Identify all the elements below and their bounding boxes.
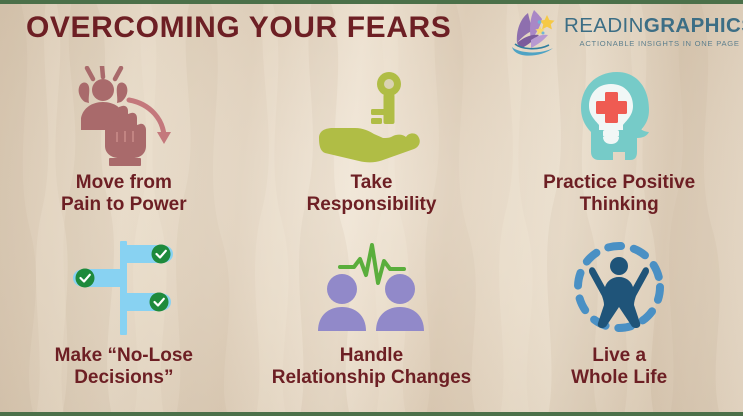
item-label: Live a Whole Life — [571, 345, 667, 389]
head-with-lightbulb-plus-icon — [569, 66, 669, 166]
item-handle-relationship-changes: Handle Relationship Changes — [248, 235, 496, 408]
logo-tagline: ACTIONABLE INSIGHTS IN ONE PAGE — [564, 40, 743, 48]
logo-word-light: READIN — [564, 14, 644, 37]
icon-wrapper — [310, 239, 432, 335]
item-label: Take Responsibility — [307, 172, 437, 216]
icon-wrapper — [569, 66, 669, 166]
item-label: Move from Pain to Power — [61, 172, 187, 216]
icon-wrapper — [571, 239, 667, 335]
logo-wordmark: READINGRAPHICS ACTIONABLE INSIGHTS IN ON… — [564, 16, 743, 47]
item-make-no-lose-decisions: Make “No-Lose Decisions” — [0, 235, 248, 408]
icon-wrapper — [65, 239, 183, 335]
item-label: Make “No-Lose Decisions” — [55, 345, 193, 389]
icon-wrapper — [311, 66, 431, 166]
bottom-edge-bar — [0, 412, 743, 416]
item-move-from-pain-to-power: Move from Pain to Power — [0, 62, 248, 235]
item-label: Handle Relationship Changes — [272, 345, 472, 389]
item-practice-positive-thinking: Practice Positive Thinking — [495, 62, 743, 235]
signpost-with-checkmarks-icon — [65, 239, 183, 335]
top-edge-bar — [0, 0, 743, 4]
logo-word-bold: GRAPHICS — [644, 14, 743, 37]
logo-word-line: READINGRAPHICS — [564, 16, 743, 37]
infographic-slide: OVERCOMING YOUR FEARS READINGRAPHICS ACT… — [0, 0, 743, 416]
icon-wrapper — [65, 66, 183, 166]
brand-logo: READINGRAPHICS ACTIONABLE INSIGHTS IN ON… — [506, 5, 731, 59]
item-live-a-whole-life: Live a Whole Life — [495, 235, 743, 408]
page-title: OVERCOMING YOUR FEARS — [26, 11, 451, 45]
book-logo-icon — [506, 7, 562, 57]
item-take-responsibility: Take Responsibility — [248, 62, 496, 235]
item-label: Practice Positive Thinking — [543, 172, 695, 216]
stressed-person-to-fist-icon — [65, 66, 183, 166]
person-arms-raised-dashed-circle-icon — [571, 239, 667, 335]
hand-holding-key-icon — [311, 68, 431, 164]
items-grid: Move from Pain to Power Take Responsibil… — [0, 62, 743, 408]
two-people-with-pulse-icon — [310, 239, 432, 335]
